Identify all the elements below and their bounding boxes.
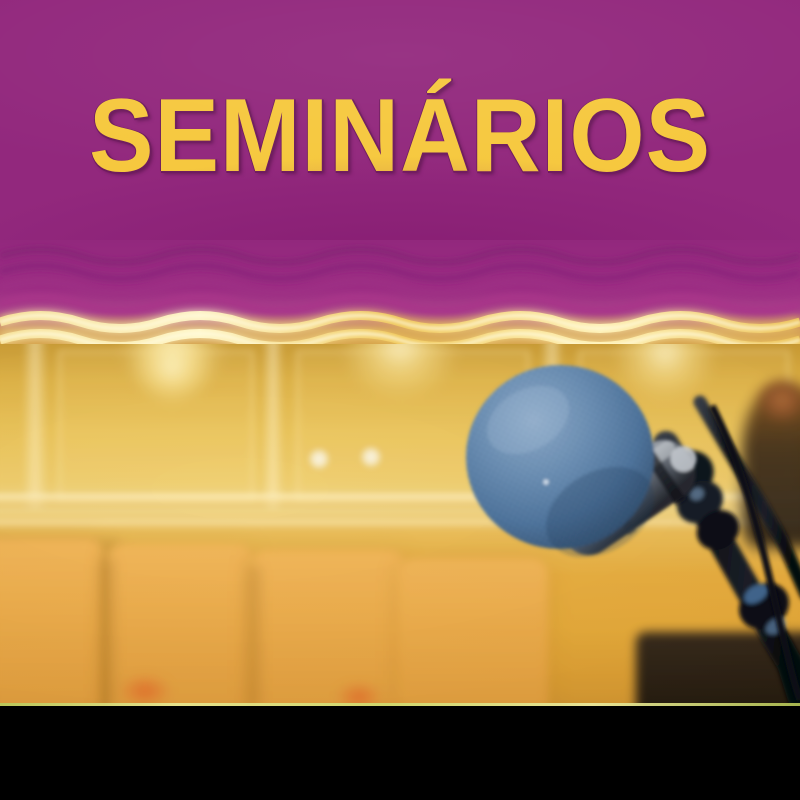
wall-sconce-1 bbox=[308, 448, 330, 470]
dark-foreground-object bbox=[636, 632, 800, 706]
chair-back-4 bbox=[398, 558, 548, 706]
pillar-right bbox=[540, 344, 564, 518]
chair-gap-2 bbox=[248, 566, 260, 706]
hall-photo bbox=[0, 344, 800, 706]
wall-sconce-2 bbox=[360, 446, 382, 468]
page-title: SEMINÁRIOS bbox=[28, 86, 772, 186]
warm-highlight-1 bbox=[118, 674, 172, 706]
hall-ledge-2 bbox=[0, 520, 800, 530]
seminarios-promo-banner: SEMINÁRIOS bbox=[0, 0, 800, 800]
pillar-left bbox=[22, 344, 48, 508]
chair-gap-1 bbox=[100, 558, 114, 706]
header-band: SEMINÁRIOS bbox=[0, 0, 800, 250]
chair-back-3 bbox=[250, 550, 406, 706]
blurred-figure-face bbox=[758, 378, 800, 422]
footer-bar: PRODUTO DIGITAL bbox=[0, 706, 800, 800]
chair-back-1 bbox=[0, 538, 104, 706]
hall-ledge bbox=[0, 494, 800, 508]
pillar-mid bbox=[262, 344, 284, 508]
wavy-divider bbox=[0, 240, 800, 356]
